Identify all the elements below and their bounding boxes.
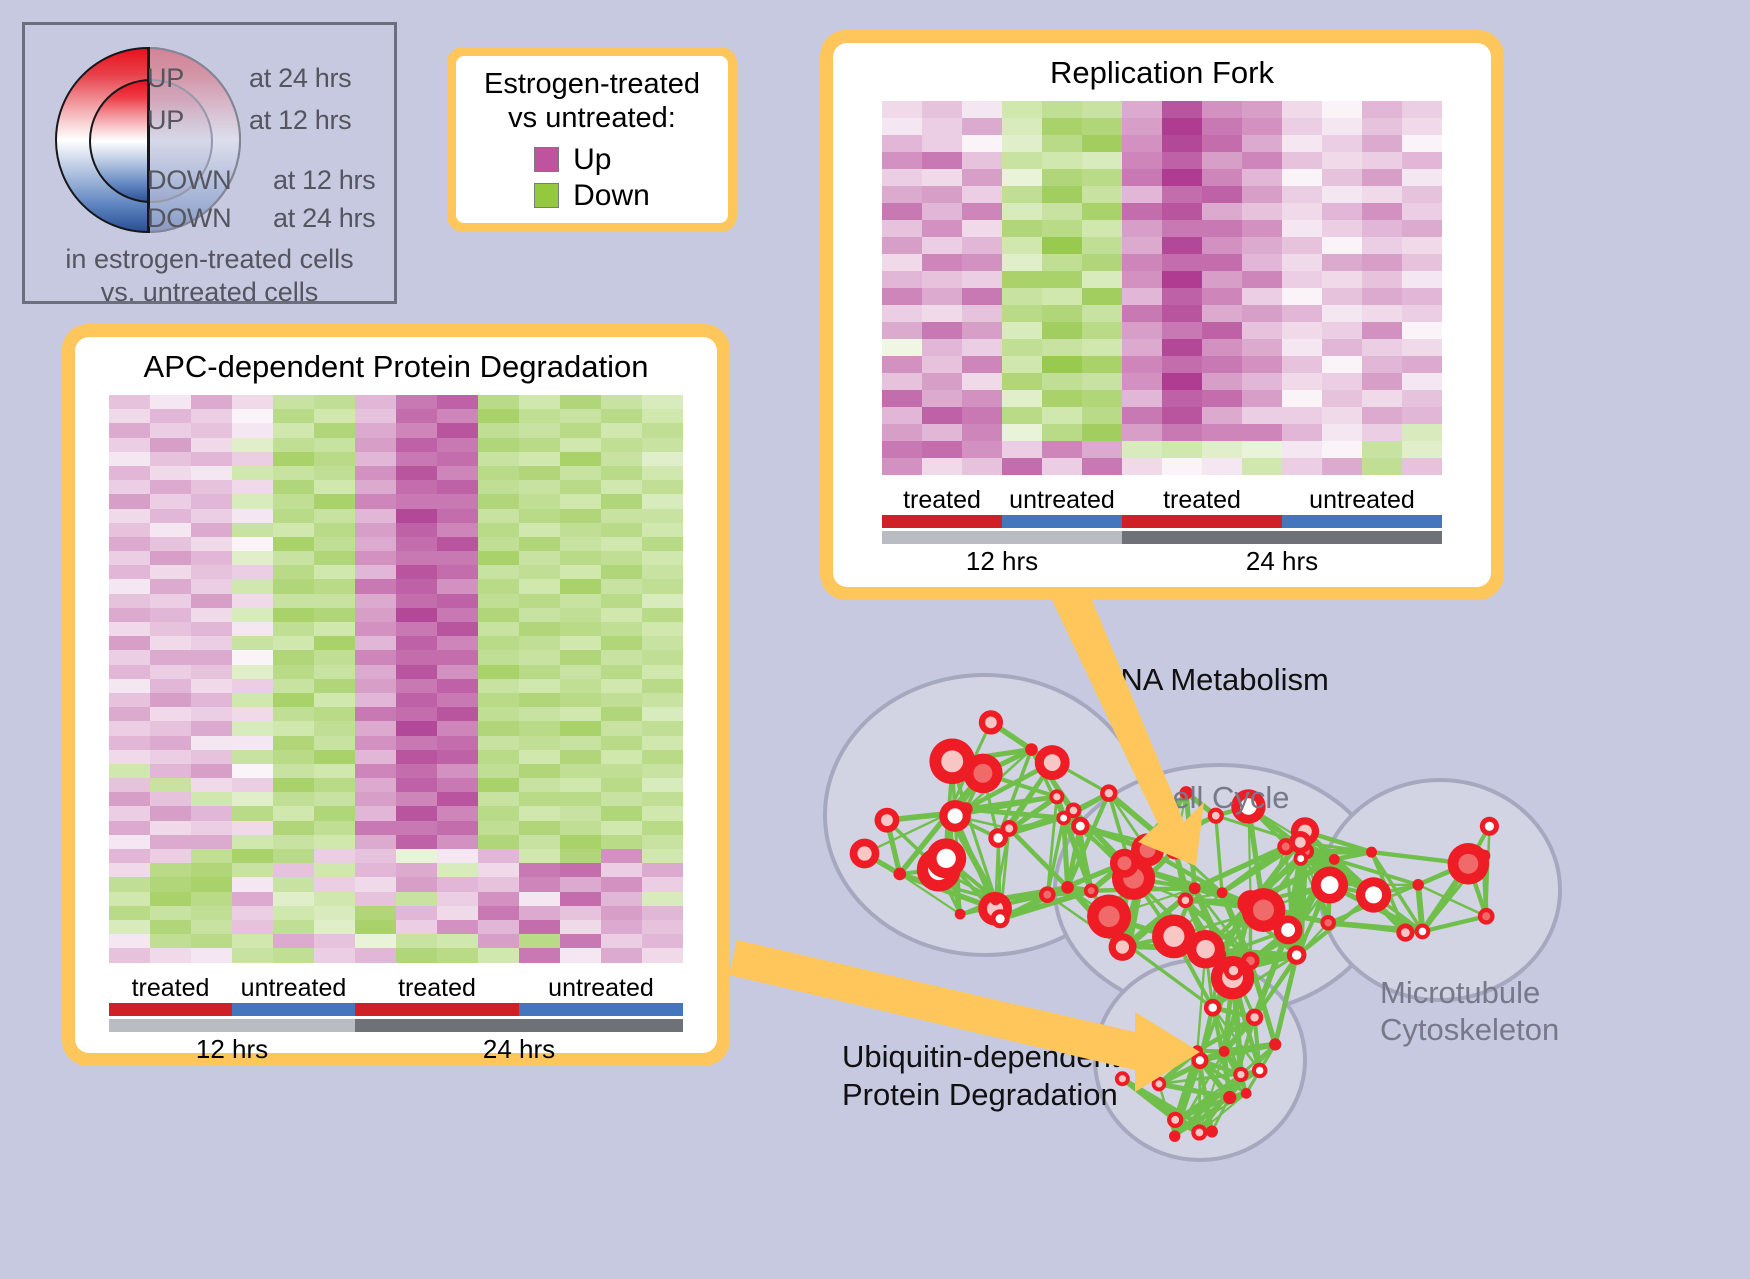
heatmap-cell xyxy=(1242,305,1282,322)
heatmap-cell xyxy=(601,480,642,494)
axis-time-labels: 12 hrs24 hrs xyxy=(882,546,1442,577)
heatmap-cell xyxy=(642,551,683,565)
heatmap-cell xyxy=(601,707,642,721)
heatmap-cell xyxy=(314,537,355,551)
cluster-label-microtubule-line1: Microtubule xyxy=(1380,975,1559,1012)
heatmap-cell xyxy=(1322,424,1362,441)
heatmap-cell xyxy=(1322,373,1362,390)
heatmap-cell xyxy=(191,892,232,906)
heatmap-cell xyxy=(478,594,519,608)
heatmap-cell xyxy=(560,849,601,863)
heatmap-cell xyxy=(642,948,683,962)
heatmap-cell xyxy=(1322,135,1362,152)
figure-canvas: UP at 24 hrs UP at 12 hrs DOWN at 12 hrs… xyxy=(0,0,1750,1279)
heatmap-cell xyxy=(355,934,396,948)
heatmap-cell xyxy=(1002,203,1042,220)
heatmap-cell xyxy=(109,721,150,735)
heatmap-cell xyxy=(396,523,437,537)
heatmap-cell xyxy=(519,892,560,906)
heatmap-cell xyxy=(1322,237,1362,254)
heatmap-cell xyxy=(922,407,962,424)
heatmap-cell xyxy=(437,821,478,835)
heatmap-cell xyxy=(1122,271,1162,288)
heatmap-cell xyxy=(396,764,437,778)
heatmap-cell xyxy=(150,764,191,778)
heatmap-cell xyxy=(109,821,150,835)
heatmap-cell xyxy=(355,707,396,721)
heatmap-cell xyxy=(273,750,314,764)
heatmap-cell xyxy=(519,622,560,636)
heatmap-cell xyxy=(601,537,642,551)
heatmap-cell xyxy=(437,565,478,579)
heatmap-cell xyxy=(1122,373,1162,390)
heatmap-cell xyxy=(232,849,273,863)
heatmap-cell xyxy=(478,892,519,906)
heatmap-cell xyxy=(232,948,273,962)
heatmap-cell xyxy=(560,863,601,877)
heatmap-cell xyxy=(601,849,642,863)
heatmap-cell xyxy=(601,579,642,593)
heatmap-cell xyxy=(109,650,150,664)
heatmap-cell xyxy=(314,423,355,437)
cluster-label-microtubule-cytoskeleton: Microtubule Cytoskeleton xyxy=(1380,975,1559,1048)
heatmap-cell xyxy=(478,466,519,480)
heatmap-cell xyxy=(1202,305,1242,322)
heatmap-cell xyxy=(601,622,642,636)
heatmap-cell xyxy=(882,305,922,322)
treatment-bar xyxy=(1122,515,1282,528)
heatmap-cell xyxy=(1122,135,1162,152)
updown-legend-title-line1: Estrogen-treated xyxy=(484,68,700,101)
heatmap-cell xyxy=(1362,152,1402,169)
heatmap-cell xyxy=(1242,441,1282,458)
heatmap-cell xyxy=(191,395,232,409)
heatmap-cell xyxy=(882,356,922,373)
heatmap-cell xyxy=(314,806,355,820)
heatmap-cell xyxy=(191,707,232,721)
heatmap-cell xyxy=(560,948,601,962)
axis-time-labels: 12 hrs24 hrs xyxy=(109,1034,683,1065)
heatmap-cell xyxy=(882,322,922,339)
network-node[interactable] xyxy=(1169,1130,1180,1141)
heatmap-cell xyxy=(396,438,437,452)
heatmap-cell xyxy=(519,835,560,849)
heatmap-cell xyxy=(437,693,478,707)
axis-group-labels: treateduntreatedtreateduntreated xyxy=(882,486,1442,515)
up-color-swatch xyxy=(534,147,559,172)
heatmap-cell xyxy=(273,452,314,466)
heatmap-cell xyxy=(642,750,683,764)
heatmap-cell xyxy=(519,821,560,835)
heatmap-cell xyxy=(109,863,150,877)
heatmap-cell xyxy=(478,764,519,778)
treatment-bar xyxy=(1282,515,1442,528)
heatmap-cell xyxy=(314,650,355,664)
heatmap-cell xyxy=(1042,390,1082,407)
heatmap-cell xyxy=(273,863,314,877)
heatmap-cell xyxy=(1362,424,1402,441)
heatmap-cell xyxy=(642,480,683,494)
heatmap-cell xyxy=(314,452,355,466)
heatmap-cell xyxy=(642,906,683,920)
network-node-core xyxy=(1208,1003,1216,1011)
label-down-12: DOWN xyxy=(147,165,231,196)
heatmap-cell xyxy=(150,551,191,565)
heatmap-cell xyxy=(1282,186,1322,203)
heatmap-cell xyxy=(642,693,683,707)
heatmap-cell xyxy=(273,551,314,565)
heatmap-cell xyxy=(191,438,232,452)
heatmap-cell xyxy=(273,877,314,891)
updown-legend-title: Estrogen-treated vs untreated: xyxy=(484,68,700,135)
heatmap-cell xyxy=(519,707,560,721)
heatmap-cell xyxy=(150,877,191,891)
network-node-core xyxy=(1195,1129,1203,1137)
heatmap-cell xyxy=(882,203,922,220)
heatmap-cell xyxy=(962,220,1002,237)
heatmap-cell xyxy=(232,409,273,423)
heatmap-cell xyxy=(109,395,150,409)
heatmap-cell xyxy=(1082,169,1122,186)
heatmap-cell xyxy=(478,409,519,423)
network-node[interactable] xyxy=(1223,1091,1236,1104)
heatmap-cell xyxy=(355,636,396,650)
heatmap-cell xyxy=(560,679,601,693)
heatmap-cell xyxy=(273,423,314,437)
network-node-core xyxy=(1482,912,1490,920)
heatmap-cell xyxy=(1242,373,1282,390)
heatmap-cell xyxy=(232,608,273,622)
heatmap-cell xyxy=(642,438,683,452)
heatmap-cell xyxy=(560,565,601,579)
heatmap-cell xyxy=(232,877,273,891)
network-node-core xyxy=(1182,897,1189,904)
heatmap-cell xyxy=(1362,118,1402,135)
heatmap-cell xyxy=(355,608,396,622)
heatmap-cell xyxy=(1282,220,1322,237)
network-node-core xyxy=(1292,950,1301,959)
network-node[interactable] xyxy=(1189,882,1201,894)
network-node[interactable] xyxy=(1219,1046,1230,1057)
heatmap-cell xyxy=(396,679,437,693)
network-node[interactable] xyxy=(1412,879,1424,891)
heatmap-cell xyxy=(882,135,922,152)
heatmap-cell xyxy=(150,906,191,920)
heatmap-cell xyxy=(314,736,355,750)
heatmap-cell xyxy=(519,494,560,508)
axis-group-label: treated xyxy=(882,486,1002,515)
heatmap-cell xyxy=(150,778,191,792)
heatmap-cell xyxy=(882,288,922,305)
heatmap-cell xyxy=(1202,220,1242,237)
heatmap-cell xyxy=(1162,186,1202,203)
heatmap-cell xyxy=(1282,237,1322,254)
heatmap-cell xyxy=(642,920,683,934)
heatmap-cell xyxy=(1042,322,1082,339)
heatmap-cell xyxy=(1362,220,1402,237)
heatmap-cell xyxy=(478,452,519,466)
network-graph-svg xyxy=(780,600,1750,1279)
heatmap-cell xyxy=(109,750,150,764)
heatmap-cell xyxy=(150,693,191,707)
time-bar xyxy=(355,1019,683,1032)
heatmap-cell xyxy=(1122,339,1162,356)
heatmap-cell xyxy=(273,636,314,650)
label-down-24-time: at 24 hrs xyxy=(273,203,375,234)
heatmap-cell xyxy=(1202,373,1242,390)
heatmap-cell xyxy=(560,636,601,650)
heatmap-cell xyxy=(232,579,273,593)
network-node[interactable] xyxy=(1206,1126,1218,1138)
heatmap-cell xyxy=(191,594,232,608)
heatmap-cell xyxy=(1242,203,1282,220)
colorbar-footer: in estrogen-treated cells vs. untreated … xyxy=(25,243,394,309)
heatmap-cell xyxy=(1042,186,1082,203)
heatmap-cell xyxy=(478,736,519,750)
heatmap-cell xyxy=(355,494,396,508)
network-node[interactable] xyxy=(1025,743,1038,756)
heatmap-cell xyxy=(1242,288,1282,305)
heatmap-cell xyxy=(519,395,560,409)
heatmap-cell xyxy=(1002,305,1042,322)
heatmap-cell xyxy=(191,920,232,934)
heatmap-cell xyxy=(232,636,273,650)
heatmap-cell xyxy=(314,409,355,423)
network-node-core xyxy=(1155,1080,1162,1087)
heatmap-cell xyxy=(1282,339,1322,356)
heatmap-cell xyxy=(601,764,642,778)
heatmap-cell xyxy=(519,452,560,466)
heatmap-cell xyxy=(560,650,601,664)
heatmap-cell xyxy=(519,877,560,891)
heatmap-cell xyxy=(642,452,683,466)
heatmap-cell xyxy=(962,356,1002,373)
heatmap-cell xyxy=(1282,356,1322,373)
heatmap-cell xyxy=(355,679,396,693)
heatmap-cell xyxy=(922,220,962,237)
heatmap-cell xyxy=(1002,101,1042,118)
heatmap-cell xyxy=(560,423,601,437)
heatmap-cell xyxy=(191,636,232,650)
heatmap-cell xyxy=(191,466,232,480)
heatmap-cell xyxy=(601,736,642,750)
heatmap-cell xyxy=(1402,390,1442,407)
network-node[interactable] xyxy=(1329,854,1340,865)
heatmap-cell xyxy=(1042,271,1082,288)
heatmap-cell xyxy=(396,877,437,891)
heatmap-cell xyxy=(150,466,191,480)
heatmap-cell xyxy=(191,665,232,679)
heatmap-cell xyxy=(1122,322,1162,339)
heatmap-cell xyxy=(314,693,355,707)
heatmap-cell xyxy=(1362,373,1402,390)
network-node[interactable] xyxy=(1269,1038,1281,1050)
heatmap-cell xyxy=(396,920,437,934)
heatmap-cell xyxy=(437,494,478,508)
time-label: 12 hrs xyxy=(882,546,1122,577)
heatmap-cell xyxy=(273,480,314,494)
heatmap-cell xyxy=(601,934,642,948)
heatmap-cell xyxy=(191,565,232,579)
heatmap-cell xyxy=(150,565,191,579)
heatmap-cell xyxy=(232,466,273,480)
heatmap-cell xyxy=(314,792,355,806)
heatmap-cell xyxy=(437,892,478,906)
heatmap-cell xyxy=(273,821,314,835)
heatmap-cell xyxy=(191,551,232,565)
heatmap-cell xyxy=(109,423,150,437)
heatmap-cell xyxy=(519,665,560,679)
heatmap-cell xyxy=(109,920,150,934)
heatmap-cell xyxy=(109,480,150,494)
network-node[interactable] xyxy=(1366,847,1377,858)
label-down-12-time: at 12 hrs xyxy=(273,165,375,196)
heatmap-cell xyxy=(601,948,642,962)
heatmap-cell xyxy=(1322,118,1362,135)
heatmap-cell xyxy=(478,693,519,707)
heatmap-cell xyxy=(1282,254,1322,271)
heatmap-cell xyxy=(355,693,396,707)
heatmap-cell xyxy=(1242,220,1282,237)
heatmap-cell xyxy=(1082,203,1122,220)
heatmap-cell xyxy=(396,835,437,849)
heatmap-cell xyxy=(1402,118,1442,135)
heatmap-cell xyxy=(314,721,355,735)
heatmap-cell xyxy=(232,537,273,551)
heatmap-cell xyxy=(314,835,355,849)
heatmap-cell xyxy=(478,906,519,920)
heatmap-cell xyxy=(355,523,396,537)
heatmap-cell xyxy=(150,792,191,806)
heatmap-cell xyxy=(1042,407,1082,424)
cluster-label-ubiquitin-line1: Ubiquitin-dependent xyxy=(842,1038,1120,1076)
heatmap-cell xyxy=(519,764,560,778)
heatmap-cell xyxy=(1282,118,1322,135)
heatmap-cell xyxy=(478,721,519,735)
heatmap-cell xyxy=(273,693,314,707)
network-node[interactable] xyxy=(1241,1088,1252,1099)
heatmap-cell xyxy=(478,835,519,849)
heatmap-cell xyxy=(355,877,396,891)
heatmap-cell xyxy=(642,423,683,437)
heatmap-cell xyxy=(396,409,437,423)
network-node[interactable] xyxy=(1217,887,1228,898)
heatmap-cell xyxy=(601,721,642,735)
heatmap-cell xyxy=(478,920,519,934)
heatmap-cell xyxy=(642,707,683,721)
heatmap-cell xyxy=(150,679,191,693)
heatmap-cell xyxy=(396,579,437,593)
heatmap-cell xyxy=(109,806,150,820)
heatmap-cell xyxy=(560,494,601,508)
heatmap-cell xyxy=(560,736,601,750)
heatmap-cell xyxy=(396,509,437,523)
heatmap-cell xyxy=(962,169,1002,186)
heatmap-cell xyxy=(642,679,683,693)
heatmap-cell xyxy=(1202,288,1242,305)
heatmap-cell xyxy=(1122,101,1162,118)
network-node[interactable] xyxy=(893,868,906,881)
heatmap-cell xyxy=(273,707,314,721)
heatmap-cell xyxy=(922,152,962,169)
heatmap-cell xyxy=(519,920,560,934)
heatmap-cell xyxy=(1402,305,1442,322)
panel-apc-degradation: APC-dependent Protein Degradation treate… xyxy=(62,324,730,1066)
heatmap-cell xyxy=(1322,322,1362,339)
heatmap-cell xyxy=(150,409,191,423)
network-node-core xyxy=(1070,807,1078,815)
heatmap-cell xyxy=(1242,101,1282,118)
network-node-core xyxy=(1196,940,1214,958)
heatmap-cell xyxy=(232,438,273,452)
heatmap-cell xyxy=(191,537,232,551)
heatmap-cell xyxy=(396,395,437,409)
heatmap-cell xyxy=(437,750,478,764)
network-node[interactable] xyxy=(1061,881,1074,894)
heatmap-cell xyxy=(191,863,232,877)
heatmap-cell xyxy=(1122,152,1162,169)
heatmap-cell xyxy=(1242,458,1282,475)
heatmap-apc-degradation xyxy=(109,395,683,963)
heatmap-cell xyxy=(314,877,355,891)
heatmap-cell xyxy=(1402,220,1442,237)
network-node-core xyxy=(1295,837,1306,848)
heatmap-cell xyxy=(1322,152,1362,169)
heatmap-cell xyxy=(109,537,150,551)
heatmap-cell xyxy=(232,863,273,877)
heatmap-cell xyxy=(191,509,232,523)
heatmap-cell xyxy=(519,650,560,664)
heatmap-cell xyxy=(601,750,642,764)
heatmap-cell xyxy=(355,849,396,863)
network-node-core xyxy=(1116,940,1129,953)
heatmap-cell xyxy=(519,466,560,480)
axis-group-label: untreated xyxy=(232,974,355,1003)
heatmap-cell xyxy=(191,608,232,622)
network-node-core xyxy=(1256,1067,1263,1074)
heatmap-cell xyxy=(882,458,922,475)
heatmap-cell xyxy=(1402,373,1442,390)
heatmap-cell xyxy=(519,750,560,764)
heatmap-cell xyxy=(1402,186,1442,203)
heatmap-cell xyxy=(601,693,642,707)
heatmap-cell xyxy=(355,622,396,636)
heatmap-cell xyxy=(437,537,478,551)
heatmap-cell xyxy=(396,806,437,820)
heatmap-cell xyxy=(1042,237,1082,254)
network-node[interactable] xyxy=(990,894,1002,906)
heatmap-cell xyxy=(150,423,191,437)
heatmap-cell xyxy=(560,537,601,551)
heatmap-cell xyxy=(396,750,437,764)
heatmap-cell xyxy=(1402,441,1442,458)
heatmap-cell xyxy=(922,373,962,390)
heatmap-cell xyxy=(109,693,150,707)
heatmap-cell xyxy=(1322,101,1362,118)
network-node-core xyxy=(1163,926,1184,947)
heatmap-cell xyxy=(150,395,191,409)
axis-group-labels: treateduntreatedtreateduntreated xyxy=(109,974,683,1003)
heatmap-cell xyxy=(478,778,519,792)
heatmap-cell xyxy=(1242,339,1282,356)
heatmap-cell xyxy=(1202,152,1242,169)
heatmap-cell xyxy=(232,778,273,792)
heatmap-cell xyxy=(314,636,355,650)
heatmap-cell xyxy=(560,622,601,636)
network-node[interactable] xyxy=(955,909,966,920)
heatmap-cell xyxy=(314,764,355,778)
heatmap-cell xyxy=(437,466,478,480)
